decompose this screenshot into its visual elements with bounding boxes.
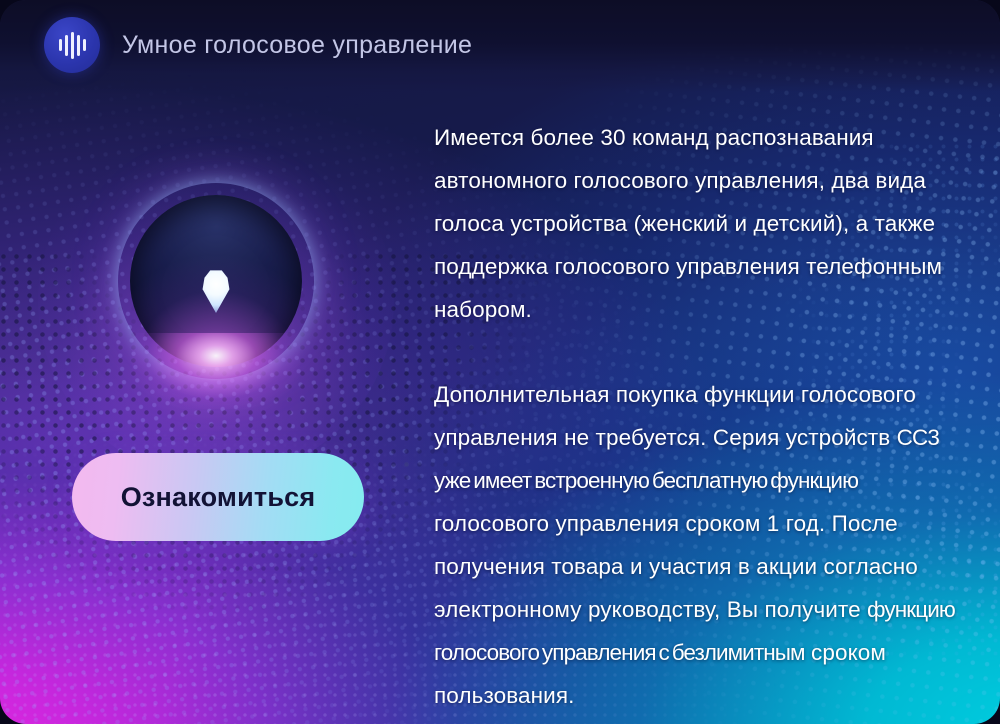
waveform-bar	[77, 35, 80, 56]
header: Умное голосовое управление	[44, 16, 472, 74]
promo-banner: Умное голосовое управление Ознакомиться …	[0, 0, 1000, 724]
waveform-bar	[65, 35, 68, 56]
waveform-bar	[71, 32, 74, 59]
paragraph-2-part-a: Дополнительная покупка функции голосовог…	[434, 382, 916, 450]
voice-assistant-orb-icon	[118, 183, 314, 379]
voice-waveform-icon	[44, 17, 100, 73]
paragraph-2: Дополнительная покупка функции голосовог…	[434, 373, 964, 717]
learn-more-button[interactable]: Ознакомиться	[72, 453, 364, 541]
paragraph-1: Имеется более 30 команд распознавания ав…	[434, 116, 964, 331]
paragraph-2-part-b: голосового управления сроком 1 год. Посл…	[434, 511, 918, 622]
waveform-bar	[59, 39, 62, 51]
promo-card: Умное голосовое управление Ознакомиться …	[0, 0, 1000, 724]
description-block: Имеется более 30 команд распознавания ав…	[434, 116, 964, 717]
waveform-bar	[83, 39, 86, 51]
page-title: Умное голосовое управление	[122, 31, 472, 60]
